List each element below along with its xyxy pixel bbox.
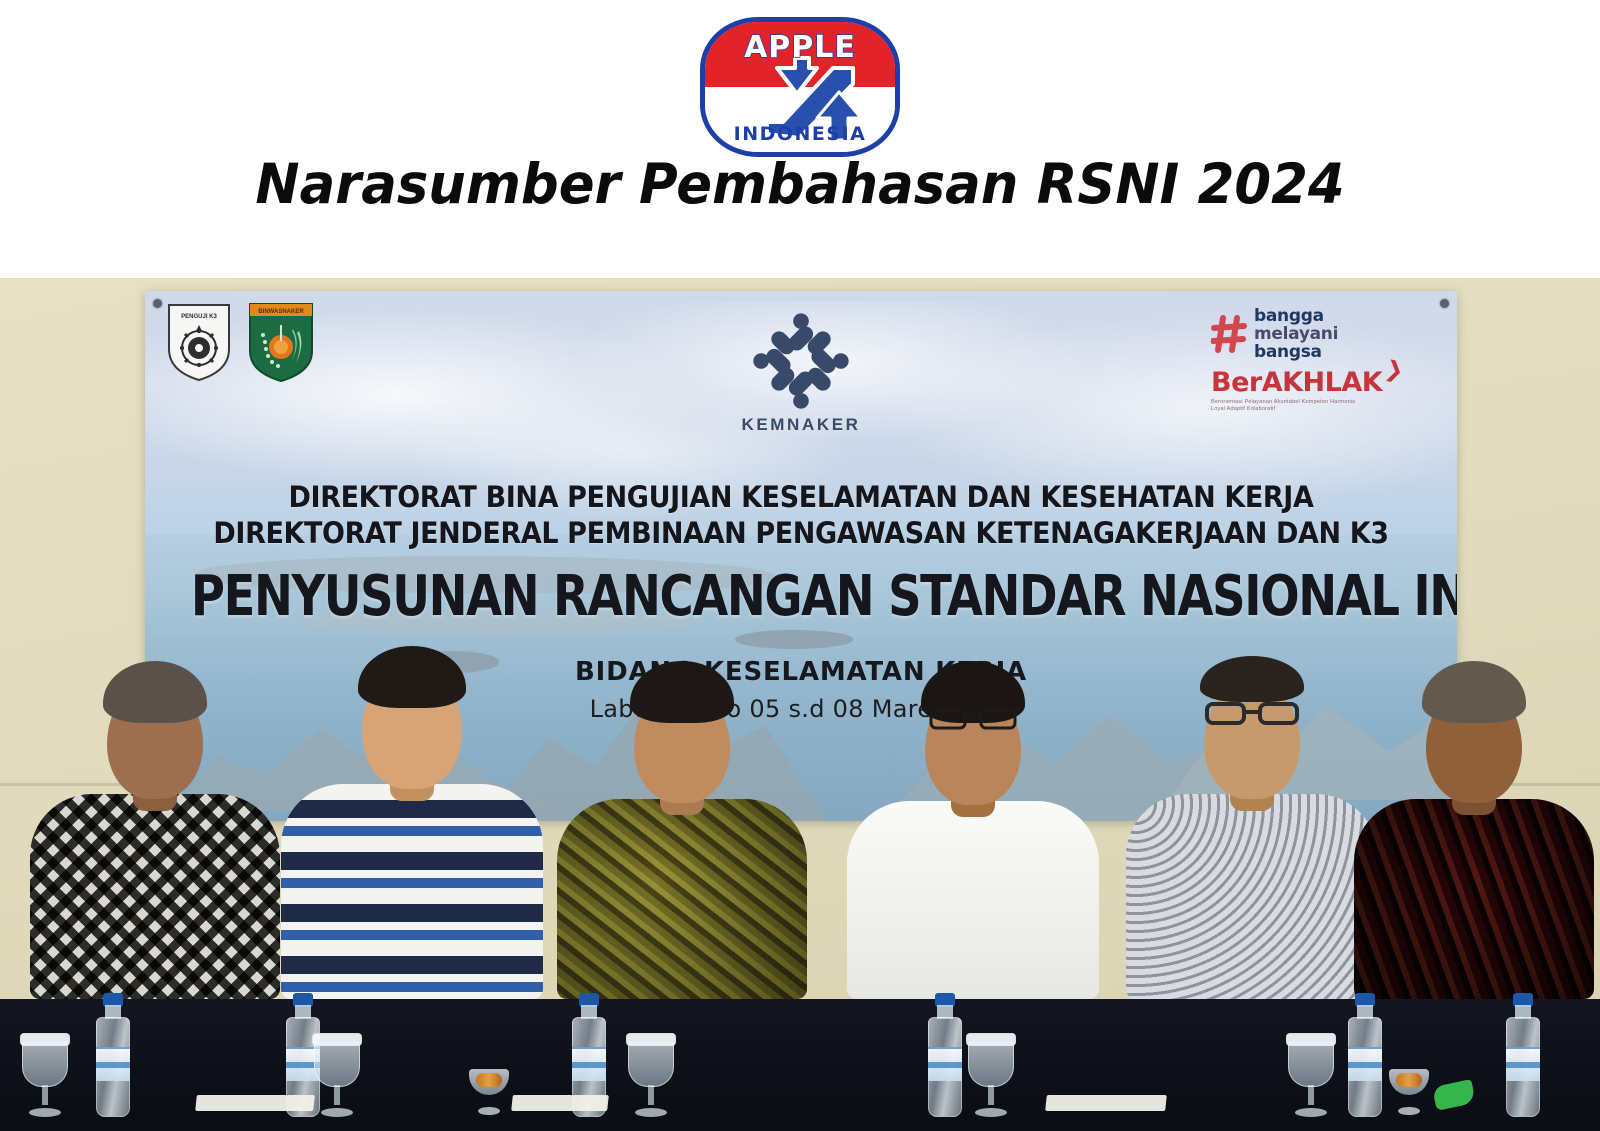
water-glass-2 — [314, 1033, 360, 1117]
speaker-5-glasses-icon — [1204, 699, 1300, 727]
glass-bowl — [314, 1041, 360, 1087]
kemnaker-wordmark: KEMNAKER — [145, 415, 1457, 435]
speaker-6-hair — [1422, 661, 1526, 723]
berakhlak-text: BerAKHLAK — [1211, 367, 1382, 398]
directorate-line-1: DIREKTORAT BINA PENGUJIAN KESELAMATAN DA… — [191, 479, 1411, 515]
glass-foot — [975, 1108, 1007, 1117]
header: APPLE INDONESIA Narasumber Pembahasan RS… — [0, 0, 1600, 278]
bangga-tagline: bangga melayani bangsa — [1254, 307, 1338, 361]
glass-bowl — [1288, 1041, 1334, 1087]
berakhlak-subtext: Berorientasi Pelayanan Akuntabel Kompete… — [1211, 399, 1361, 413]
water-bottle-1 — [96, 993, 130, 1117]
speaker-2 — [272, 654, 552, 999]
speaker-1-torso — [30, 794, 280, 999]
glass-foot — [1295, 1108, 1327, 1117]
speaker-5-hair — [1200, 656, 1304, 702]
water-bottle-6 — [1506, 993, 1540, 1117]
event-photo: PENGUJI K3 BINWASNAKER — [0, 278, 1600, 1131]
speaker-1-hair — [103, 661, 207, 723]
berakhlak-wordmark: BerAKHLAK❯ — [1211, 367, 1391, 398]
glass-bowl — [22, 1041, 68, 1087]
seated-panelists — [0, 579, 1600, 999]
dessert-food — [1396, 1073, 1422, 1087]
logo-badge: APPLE INDONESIA — [700, 17, 900, 157]
speaker-3 — [548, 669, 816, 999]
green-object — [1432, 1079, 1476, 1111]
logo-top-text: APPLE — [705, 30, 895, 65]
water-glass-4 — [968, 1033, 1014, 1117]
bangga-line-2: melayani — [1254, 325, 1338, 343]
speaker-6 — [1348, 669, 1600, 999]
speaker-4 — [838, 669, 1108, 999]
hash-icon — [1211, 314, 1247, 354]
bottle-label — [572, 1047, 606, 1081]
glass-stem — [648, 1085, 654, 1105]
logo-bottom-text: INDONESIA — [705, 123, 895, 145]
glass-bowl — [628, 1041, 674, 1087]
speaker-5 — [1118, 664, 1386, 999]
glass-foot — [321, 1108, 353, 1117]
glass-stem — [988, 1085, 994, 1105]
banner-grommet-right — [1440, 299, 1449, 308]
dessert-foot — [1398, 1107, 1420, 1115]
speaker-3-hair — [630, 661, 734, 723]
speaker-1 — [20, 669, 290, 999]
glass-foot — [29, 1108, 61, 1117]
speaker-5-torso — [1126, 794, 1378, 999]
dessert-foot — [478, 1107, 500, 1115]
bottle-label — [1506, 1047, 1540, 1081]
dessert-cup-1 — [466, 1065, 512, 1115]
glass-foot — [635, 1108, 667, 1117]
bangga-line-1: bangga — [1254, 307, 1338, 325]
speaker-2-hair — [358, 646, 466, 708]
napkin-2 — [511, 1095, 609, 1111]
table-cloth — [0, 999, 1600, 1131]
glass-bowl — [968, 1041, 1014, 1087]
bottle-label — [928, 1047, 962, 1081]
dessert-cup-2 — [1386, 1065, 1432, 1115]
bangga-row: bangga melayani bangsa — [1211, 307, 1391, 361]
speaker-2-torso — [281, 784, 543, 999]
speaker-6-torso — [1354, 799, 1594, 999]
napkin-3 — [1045, 1095, 1167, 1111]
water-bottle-5 — [1348, 993, 1382, 1117]
page-title: Narasumber Pembahasan RSNI 2024 — [32, 152, 1568, 216]
water-bottle-4 — [928, 993, 962, 1117]
water-glass-5 — [1288, 1033, 1334, 1117]
water-glass-1 — [22, 1033, 68, 1117]
banner-grommet-left — [153, 299, 162, 308]
bottle-label — [96, 1047, 130, 1081]
speaker-3-torso — [557, 799, 807, 999]
glass-stem — [42, 1085, 48, 1105]
speaker-4-torso — [847, 801, 1099, 999]
apple-indonesia-logo: APPLE INDONESIA — [700, 17, 900, 157]
napkin-1 — [195, 1095, 315, 1111]
page-root: APPLE INDONESIA Narasumber Pembahasan RS… — [0, 0, 1600, 1131]
berakhlak-logo: bangga melayani bangsa BerAKHLAK❯ Berori… — [1211, 307, 1391, 413]
bangga-line-3: bangsa — [1254, 343, 1338, 361]
glass-stem — [334, 1085, 340, 1105]
glass-stem — [1308, 1085, 1314, 1105]
dessert-food — [476, 1073, 502, 1087]
bottle-label — [1348, 1047, 1382, 1081]
speaker-4-glasses-icon — [927, 705, 1019, 731]
kemnaker-icon — [749, 309, 853, 413]
water-glass-3 — [628, 1033, 674, 1117]
directorate-line-2: DIREKTORAT JENDERAL PEMBINAAN PENGAWASAN… — [191, 515, 1411, 551]
